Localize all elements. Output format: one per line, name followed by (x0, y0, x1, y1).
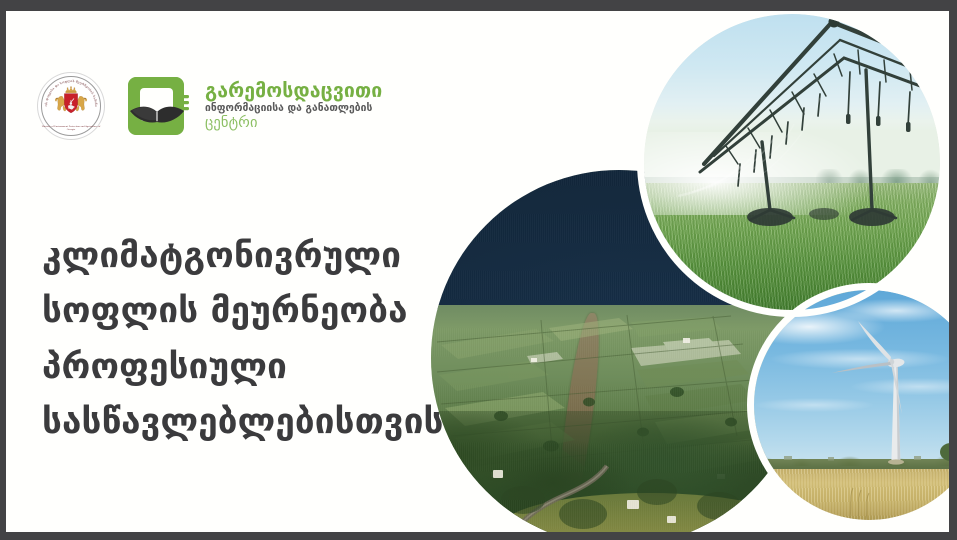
title-line-4: სასწავლებლებისთვის (42, 395, 462, 450)
title-line-2: სოფლის მეურნეობა (42, 284, 462, 339)
title-line-3: პროფესიული (42, 340, 462, 395)
eiec-line-3: ცენტრი (205, 115, 382, 131)
eiec-line-2: ინფორმაციისა და განათლების (205, 102, 382, 115)
ministry-seal-icon: გარემოს დაცვისა და სოფლის მეურნეობის სამ… (38, 73, 104, 139)
slide-frame: გარემოს დაცვისა და სოფლის მეურნეობის სამ… (0, 0, 957, 540)
title-line-1: კლიმატგონივრული (42, 229, 462, 284)
eiec-logo-text: გარემოსდაცვითი ინფორმაციისა და განათლები… (205, 81, 382, 132)
photo-center-pivot-irrigation (644, 14, 940, 310)
eiec-logo: გარემოსდაცვითი ინფორმაციისა და განათლები… (126, 75, 382, 137)
slide-title: კლიმატგონივრული სოფლის მეურნეობა პროფესი… (42, 229, 462, 450)
coat-of-arms-icon (51, 86, 91, 120)
logo-bar: გარემოს დაცვისა და სოფლის მეურნეობის სამ… (38, 73, 382, 139)
seal-caption: Ministry of Environment Protection and A… (38, 126, 104, 132)
eiec-line-1: გარემოსდაცვითი (205, 81, 382, 102)
slide-canvas: გარემოს დაცვისა და სოფლის მეურნეობის სამ… (6, 11, 949, 532)
photo-wind-turbine-field (754, 290, 949, 520)
center-pivot-sprinkler-icon (644, 14, 940, 310)
wind-turbine-icon (754, 290, 949, 520)
open-book-logo-mark-icon (126, 75, 196, 137)
image-collage (406, 11, 949, 532)
